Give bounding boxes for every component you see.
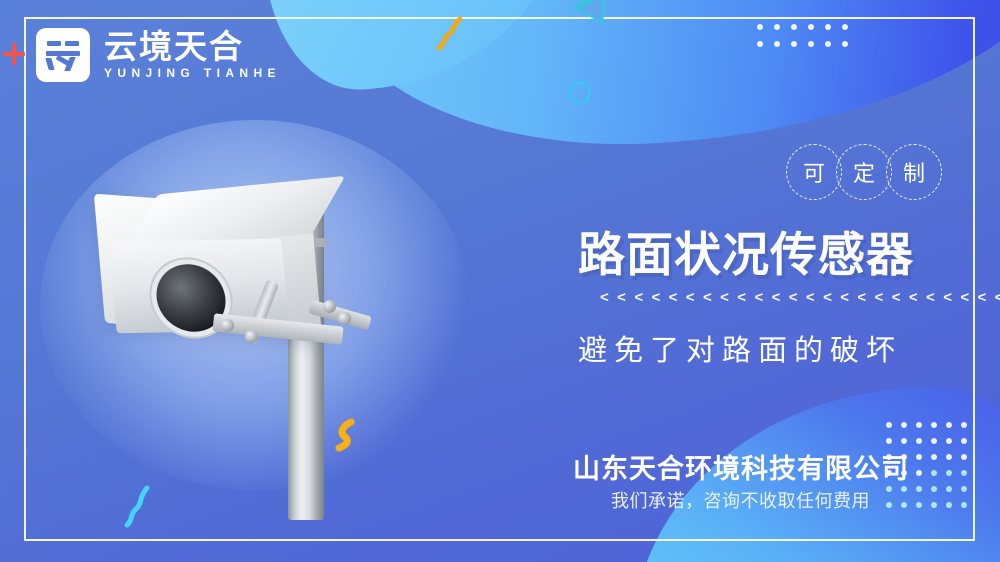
brand-logo[interactable]: 云境天合 YUNJING TIANHE <box>36 28 281 82</box>
company-name: 山东天合环境科技有限公司 <box>573 447 909 486</box>
brand-name-en: YUNJING TIANHE <box>104 66 281 80</box>
plus-icon <box>3 43 25 65</box>
page-title: 路面状况传感器 <box>578 216 914 285</box>
page-subtitle: 避免了对路面的破坏 <box>578 327 902 369</box>
road-condition-sensor-camera <box>95 180 425 520</box>
badge-zhi: 制 <box>886 144 942 200</box>
bolt-icon <box>245 330 258 343</box>
brand-name-cn: 云境天合 <box>104 30 281 64</box>
promotional-banner: 云境天合 YUNJING TIANHE 可 定 制 路面状况传感器 <<<<<<… <box>0 0 1000 562</box>
badge-ke: 可 <box>786 144 842 200</box>
squiggle-icon <box>434 14 468 52</box>
tian-glyph-logo-icon <box>36 28 90 82</box>
bolt-icon <box>338 312 351 325</box>
top-wave-decoration <box>325 0 1000 161</box>
customizable-badges: 可 定 制 <box>786 144 936 200</box>
circle-outline-icon <box>568 81 591 104</box>
bolt-icon <box>221 319 234 332</box>
bolt-icon <box>323 300 336 313</box>
chevron-divider: <<<<<<<<<<<<<<<<<<<<<<<< <box>600 289 1000 306</box>
dot-grid-icon <box>757 24 859 58</box>
badge-ding: 定 <box>836 144 892 200</box>
promise-text: 我们承诺，咨询不收取任何费用 <box>611 487 870 513</box>
